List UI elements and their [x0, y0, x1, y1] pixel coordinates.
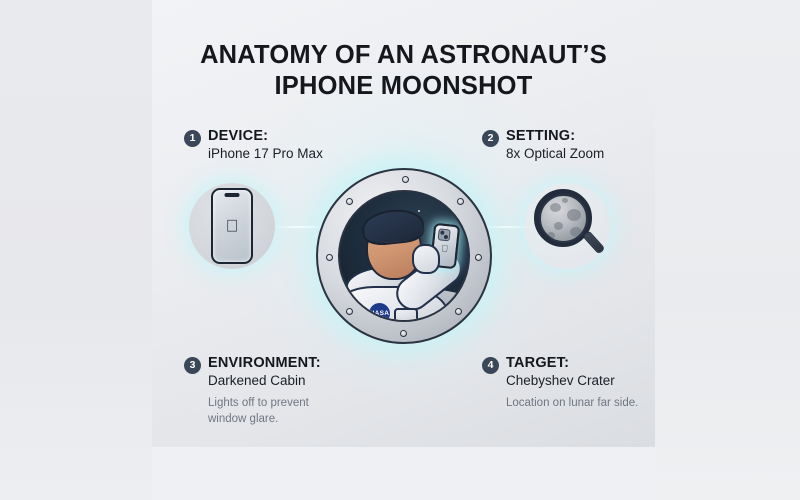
callout-kicker-4: TARGET:: [506, 355, 615, 372]
outer-margin-right: [655, 0, 800, 500]
porthole-rivet: [475, 254, 482, 261]
outer-margin-left: [0, 0, 152, 500]
iphone-body: : [211, 188, 253, 264]
nasa-patch-label: NASA: [370, 310, 390, 317]
callout-note-3: Lights off to prevent window glare.: [208, 396, 348, 427]
camera-lens: [444, 235, 448, 239]
infographic-panel: ANATOMY OF AN ASTRONAUT’S IPHONE MOONSHO…: [152, 0, 655, 447]
moon-crater: [562, 198, 568, 203]
apple-logo-icon: : [226, 218, 239, 235]
iphone-notch-icon: [225, 193, 240, 197]
spacesuit-pocket: [394, 308, 418, 322]
moon-crater: [550, 203, 561, 212]
porthole-rivet: [402, 176, 409, 183]
magnifier-moon-icon: [524, 183, 610, 269]
callout-value-1: iPhone 17 Pro Max: [208, 145, 323, 163]
moon-crater: [547, 232, 555, 239]
moon-crater: [554, 222, 563, 230]
title-line-2: IPHONE MOONSHOT: [152, 71, 655, 102]
phone-camera-module-icon: [438, 228, 451, 241]
callout-device: 1 DEVICE: iPhone 17 Pro Max: [184, 128, 323, 163]
porthole-rivet: [326, 254, 333, 261]
callout-note-4: Location on lunar far side.: [506, 396, 638, 412]
callout-value-4: Chebyshev Crater: [506, 372, 615, 390]
callout-kicker-2: SETTING:: [506, 128, 604, 145]
callout-kicker-3: ENVIRONMENT:: [208, 355, 321, 372]
infographic-page: ANATOMY OF AN ASTRONAUT’S IPHONE MOONSHO…: [0, 0, 800, 500]
astronaut-porthole-illustration:  NASA: [316, 168, 492, 344]
page-title: ANATOMY OF AN ASTRONAUT’S IPHONE MOONSHO…: [152, 40, 655, 102]
callout-badge-3: 3: [184, 357, 201, 374]
callout-value-3: Darkened Cabin: [208, 372, 321, 390]
callout-kicker-1: DEVICE:: [208, 128, 323, 145]
outer-margin-bottom: [152, 447, 655, 500]
callout-environment: 3 ENVIRONMENT: Darkened Cabin Lights off…: [184, 355, 348, 427]
callout-target: 4 TARGET: Chebyshev Crater Location on l…: [482, 355, 638, 412]
callout-setting: 2 SETTING: 8x Optical Zoom: [482, 128, 604, 163]
callout-value-2: 8x Optical Zoom: [506, 145, 604, 163]
porthole-window:  NASA: [338, 190, 470, 322]
magnifier-glyph: [534, 189, 600, 255]
callout-badge-4: 4: [482, 357, 499, 374]
iphone-icon: : [189, 183, 275, 269]
nasa-patch-icon: NASA: [368, 302, 391, 322]
star: [418, 210, 420, 212]
callout-badge-1: 1: [184, 130, 201, 147]
title-line-1: ANATOMY OF AN ASTRONAUT’S: [152, 40, 655, 71]
callout-badge-2: 2: [482, 130, 499, 147]
porthole-rivet: [346, 198, 353, 205]
porthole-rivet: [457, 198, 464, 205]
moon-crater: [570, 227, 582, 237]
porthole-rivet: [400, 330, 407, 337]
moon-disc-icon: [539, 194, 588, 243]
moon-crater: [567, 209, 581, 221]
apple-logo-icon: : [441, 244, 449, 254]
camera-lens: [440, 230, 444, 234]
astronaut-hand: [412, 244, 440, 274]
magnifier-handle: [582, 230, 605, 255]
